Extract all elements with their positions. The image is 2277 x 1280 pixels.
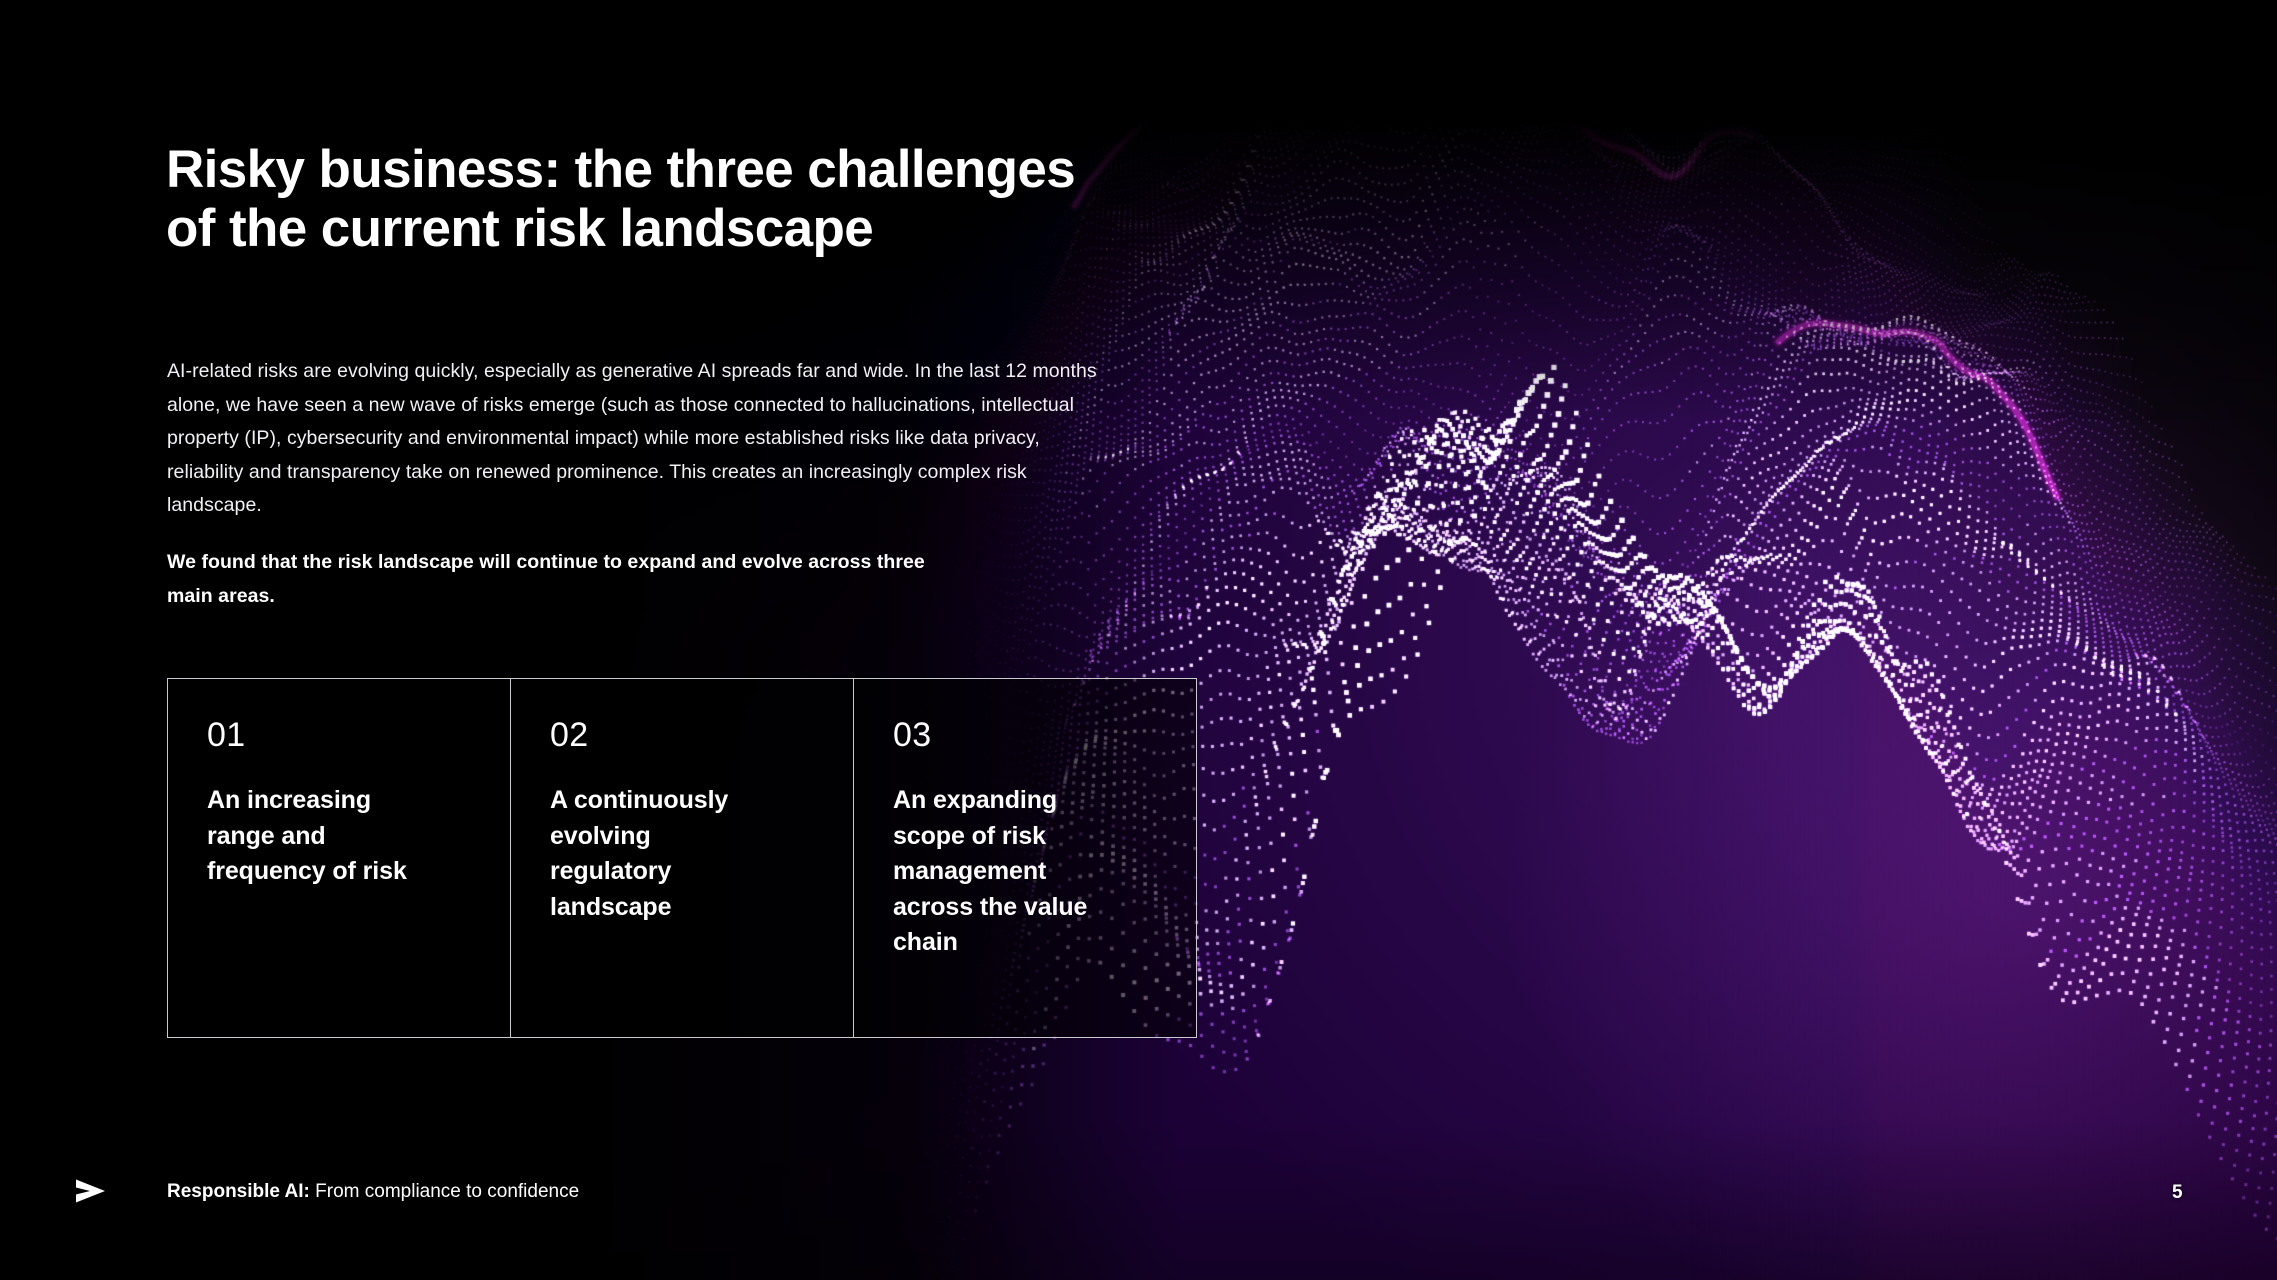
accenture-chevron-icon xyxy=(74,1176,108,1206)
page-number: 5 xyxy=(2172,1182,2183,1204)
page-title: Risky business: the three challenges of … xyxy=(166,140,1075,259)
card-heading: An expanding scope of risk management ac… xyxy=(893,783,1133,961)
body-paragraph: AI-related risks are evolving quickly, e… xyxy=(167,355,1117,523)
card-number: 01 xyxy=(207,718,510,752)
body-bold-statement: We found that the risk landscape will co… xyxy=(167,546,967,613)
footer-title: Responsible AI: From compliance to confi… xyxy=(167,1182,579,1201)
footer-title-bold: Responsible AI: xyxy=(167,1181,310,1202)
card-heading: A continuously evolving regulatory lands… xyxy=(550,783,765,925)
card-01: 01 An increasing range and frequency of … xyxy=(168,679,510,1037)
card-heading: An increasing range and frequency of ris… xyxy=(207,783,422,890)
card-02: 02 A continuously evolving regulatory la… xyxy=(510,679,853,1037)
card-number: 03 xyxy=(893,718,1196,752)
footer-title-regular: From compliance to confidence xyxy=(310,1181,579,1202)
card-03: 03 An expanding scope of risk management… xyxy=(853,679,1196,1037)
slide-content: Risky business: the three challenges of … xyxy=(0,0,2277,1280)
card-number: 02 xyxy=(550,718,853,752)
three-challenges-box: 01 An increasing range and frequency of … xyxy=(167,678,1197,1038)
